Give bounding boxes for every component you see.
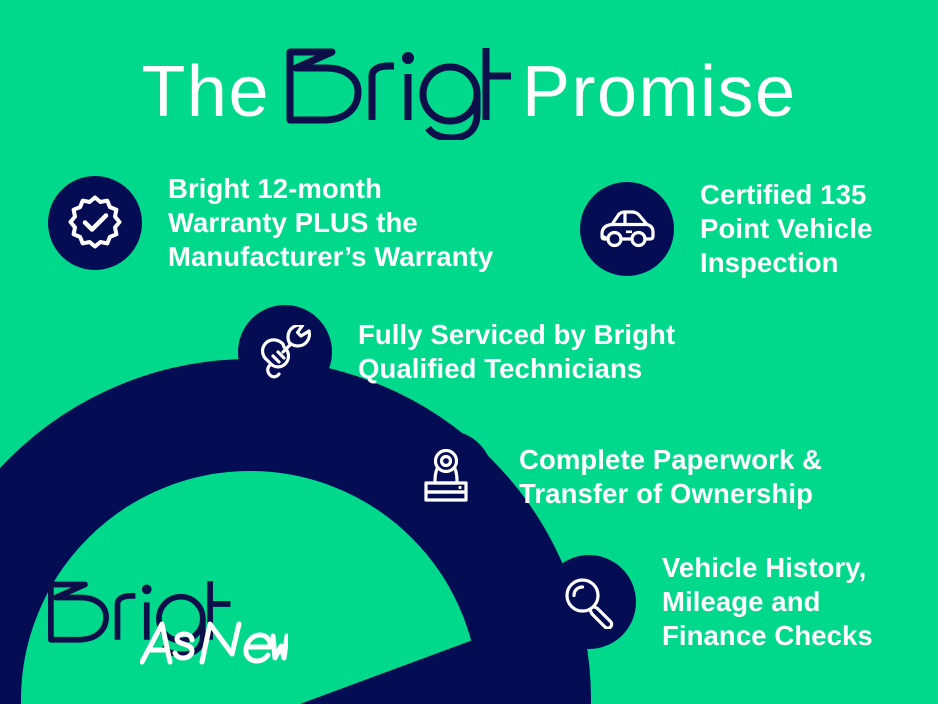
page-title: The	[0, 38, 938, 146]
certified-badge-check-icon	[48, 176, 142, 270]
benefit-label: Fully Serviced by Bright Qualified Techn…	[358, 318, 675, 386]
bright-wordmark-logo	[280, 44, 512, 140]
rubber-stamp-icon	[399, 430, 493, 524]
brand-logo-lockup	[42, 578, 292, 678]
benefit-item-inspection: Certified 135 Point Vehicle Inspection	[580, 178, 872, 279]
benefit-label: Certified 135 Point Vehicle Inspection	[700, 178, 872, 279]
magnifying-glass-icon	[542, 555, 636, 649]
benefit-label: Bright 12-month Warranty PLUS the Manufa…	[168, 172, 493, 273]
title-suffix: Promise	[522, 56, 797, 128]
benefit-item-checks: Vehicle History, Mileage and Finance Che…	[542, 551, 873, 652]
benefit-item-servicing: Fully Serviced by Bright Qualified Techn…	[238, 305, 675, 399]
benefit-item-paperwork: Complete Paperwork & Transfer of Ownersh…	[399, 430, 822, 524]
brand-asnew-wordmark	[140, 620, 288, 666]
car-side-icon	[580, 182, 674, 276]
benefit-item-warranty: Bright 12-month Warranty PLUS the Manufa…	[48, 172, 493, 273]
hand-wrench-icon	[238, 305, 332, 399]
benefit-label: Vehicle History, Mileage and Finance Che…	[662, 551, 873, 652]
benefit-label: Complete Paperwork & Transfer of Ownersh…	[519, 443, 822, 511]
navy-wedge-shape	[300, 630, 500, 704]
promise-poster: The	[0, 0, 938, 704]
title-prefix: The	[141, 56, 270, 128]
